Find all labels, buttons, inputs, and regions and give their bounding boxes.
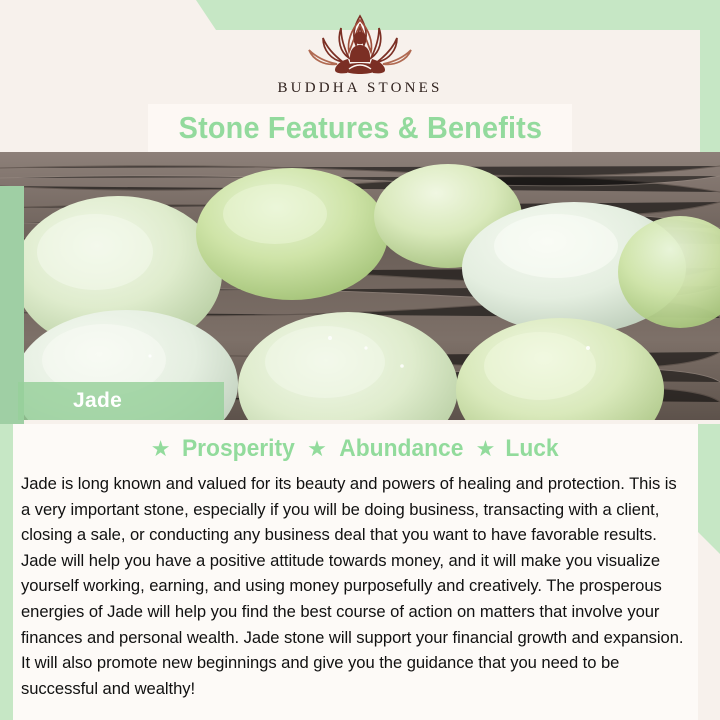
star-icon: ★ (307, 438, 327, 460)
star-icon: ★ (476, 438, 496, 460)
page-title: Stone Features & Benefits (178, 110, 542, 146)
keyword-abundance: Abundance (339, 435, 463, 463)
title-band: Stone Features & Benefits (148, 104, 572, 152)
photo-caption-label: Jade (73, 389, 122, 413)
decor-green-right-text-bar (698, 424, 720, 554)
keyword-row: ★ Prosperity ★ Abundance ★ Luck (13, 430, 698, 468)
photo-caption-band: Jade (18, 382, 224, 420)
star-icon: ★ (151, 438, 171, 460)
infographic-page: BUDDHA STONES Stone Features & Benefits (0, 0, 720, 720)
decor-green-left-text-bar (0, 424, 13, 720)
description-paragraph: Jade is long known and valued for its be… (21, 471, 690, 701)
brand-logo: BUDDHA STONES (0, 12, 720, 106)
stone-photo (0, 152, 720, 420)
brand-name: BUDDHA STONES (277, 80, 442, 97)
jade-stones-illustration (0, 152, 720, 420)
keyword-prosperity: Prosperity (182, 435, 295, 463)
lotus-meditation-icon (285, 12, 435, 78)
description-card: ★ Prosperity ★ Abundance ★ Luck Jade is … (13, 424, 698, 720)
keyword-luck: Luck (506, 435, 559, 463)
